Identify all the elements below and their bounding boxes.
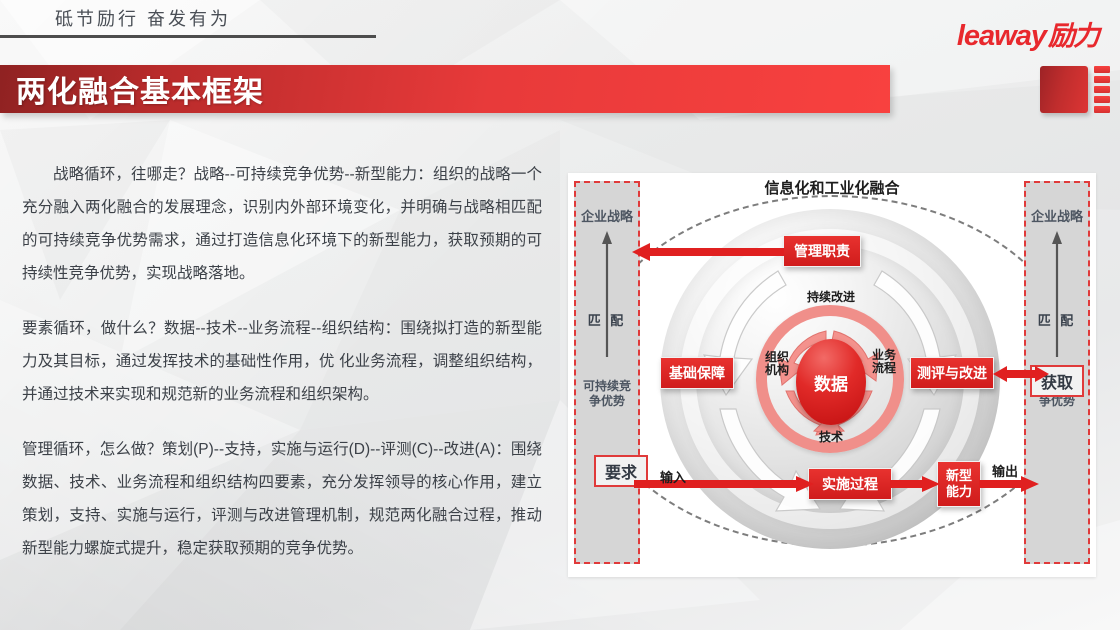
decorative-bar (1094, 106, 1110, 113)
slide-title-banner: 两化融合基本框架 (0, 65, 890, 113)
decorative-bar (1094, 96, 1110, 103)
paragraph-management-cycle: 管理循环，怎么做？策划(P)--支持，实施与运行(D)--评测(C)--改进(A… (22, 433, 542, 565)
framework-diagram: 信息化和工业化融合 数据 持续改进 组织机构 业务流程 技 (568, 173, 1096, 577)
box-implementation-process: 实施过程 (808, 468, 892, 500)
label-continuous-improvement: 持续改进 (781, 291, 881, 304)
label-business-process: 业务流程 (867, 349, 901, 375)
header-divider-rule (0, 35, 376, 38)
arrow-implementation-to-capability (890, 476, 940, 492)
decorative-bar (1094, 66, 1110, 73)
left-strategy-panel: 企业战略 匹 配 可持续竞争优势 (574, 181, 640, 564)
decorative-square (1040, 66, 1088, 113)
box-evaluation-improvement: 测评与改进 (910, 357, 994, 389)
decorative-bar (1094, 76, 1110, 83)
decorative-bar (1094, 86, 1110, 93)
right-panel-match-label: 匹 配 (1026, 313, 1088, 328)
left-panel-strategy-label: 企业战略 (576, 209, 638, 224)
logo-chinese-text: 励力 (1048, 21, 1098, 52)
decorative-bars (1094, 66, 1110, 113)
box-new-capability: 新型能力 (937, 461, 981, 507)
arrow-manage-to-strategy (632, 243, 784, 261)
body-text-block: 战略循环，往哪走？战略--可持续竞争优势--新型能力：组织的战略一个充分融入两化… (22, 158, 542, 565)
right-panel-strategy-label: 企业战略 (1026, 209, 1088, 224)
label-input: 输入 (660, 467, 686, 486)
header-tagline: 砥节励行 奋发有为 (55, 5, 231, 31)
left-panel-match-label: 匹 配 (576, 313, 638, 328)
box-basic-guarantee: 基础保障 (660, 357, 734, 389)
core-data-ellipse: 数据 (796, 339, 866, 425)
label-technology: 技术 (800, 431, 862, 444)
left-panel-up-arrow-icon (601, 231, 613, 357)
box-management-responsibility: 管理职责 (783, 235, 861, 267)
right-panel-up-arrow-icon (1051, 231, 1063, 357)
arrow-evaluate-to-acquire (993, 365, 1049, 383)
paragraph-element-cycle: 要素循环，做什么？数据--技术--业务流程--组织结构：围绕拟打造的新型能力及其… (22, 312, 542, 411)
page-title: 两化融合基本框架 (16, 67, 264, 111)
left-panel-advantage-label: 可持续竞争优势 (576, 379, 638, 409)
paragraph-strategy-cycle: 战略循环，往哪走？战略--可持续竞争优势--新型能力：组织的战略一个充分融入两化… (22, 158, 542, 290)
logo-latin-text: leaway (957, 20, 1046, 52)
label-organization: 组织机构 (760, 351, 794, 377)
company-logo: leaway励力 (957, 14, 1098, 53)
label-output: 输出 (992, 461, 1018, 480)
